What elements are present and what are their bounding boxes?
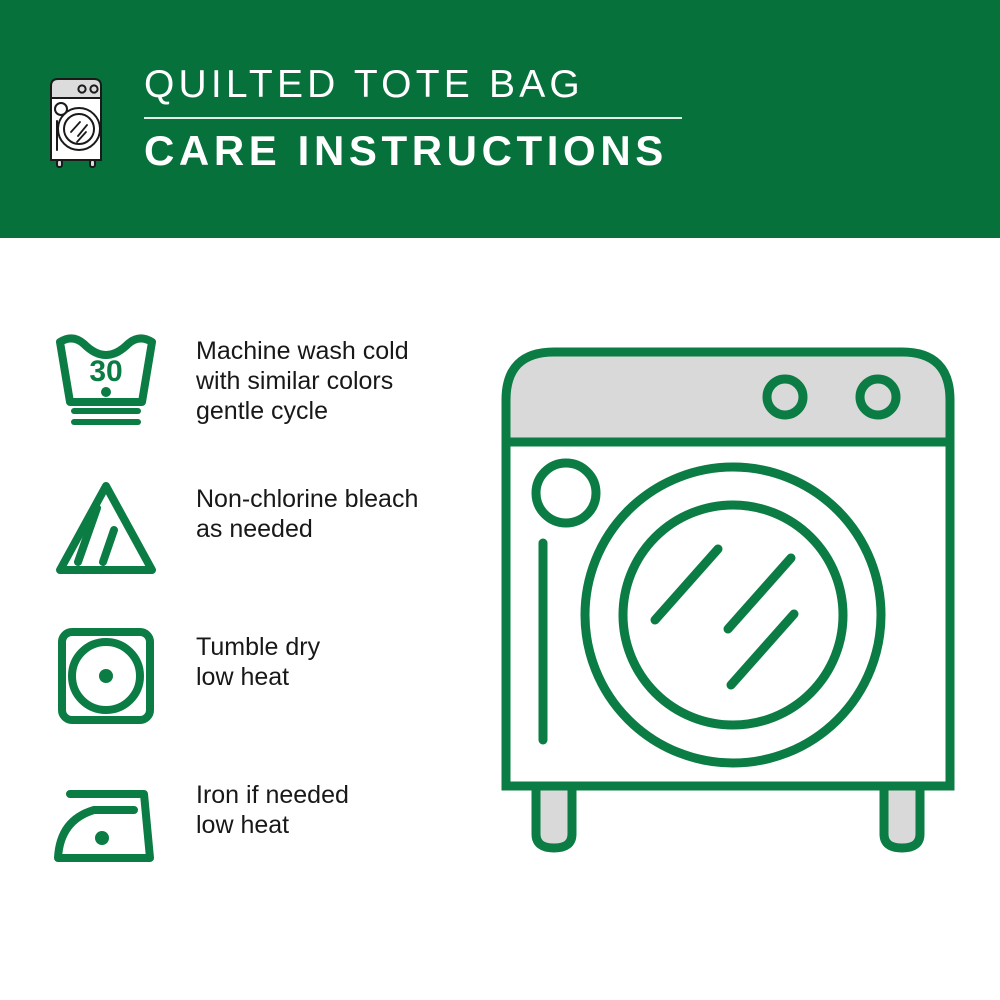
washing-machine-icon <box>44 68 116 172</box>
care-instruction-list: 30 Machine wash cold with similar colors… <box>50 330 480 922</box>
header-band: QUILTED TOTE BAG CARE INSTRUCTIONS <box>0 0 1000 238</box>
list-item-label: Non-chlorine bleach as needed <box>196 478 418 544</box>
non-chlorine-bleach-triangle-icon <box>50 478 162 578</box>
tumble-dry-low-heat-icon <box>50 626 162 726</box>
page-subtitle: CARE INSTRUCTIONS <box>144 127 682 175</box>
list-item: 30 Machine wash cold with similar colors… <box>50 330 480 435</box>
machine-wash-30-gentle-icon: 30 <box>50 330 162 430</box>
list-item-label: Iron if needed low heat <box>196 774 349 840</box>
list-item: Non-chlorine bleach as needed <box>50 478 480 583</box>
list-item: Iron if needed low heat <box>50 774 480 879</box>
iron-low-heat-icon <box>50 774 162 874</box>
wash-temperature-label: 30 <box>89 355 122 388</box>
header-divider <box>144 117 682 119</box>
list-item-label: Tumble dry low heat <box>196 626 320 692</box>
leg-right <box>884 786 920 848</box>
list-item-label: Machine wash cold with similar colors ge… <box>196 330 409 426</box>
front-load-washing-machine-illustration <box>488 330 988 930</box>
page-title: QUILTED TOTE BAG <box>144 62 682 108</box>
leg-left <box>536 786 572 848</box>
header-title-group: QUILTED TOTE BAG CARE INSTRUCTIONS <box>144 62 682 175</box>
list-item: Tumble dry low heat <box>50 626 480 731</box>
header-content: QUILTED TOTE BAG CARE INSTRUCTIONS <box>44 62 682 175</box>
control-panel <box>506 352 950 442</box>
